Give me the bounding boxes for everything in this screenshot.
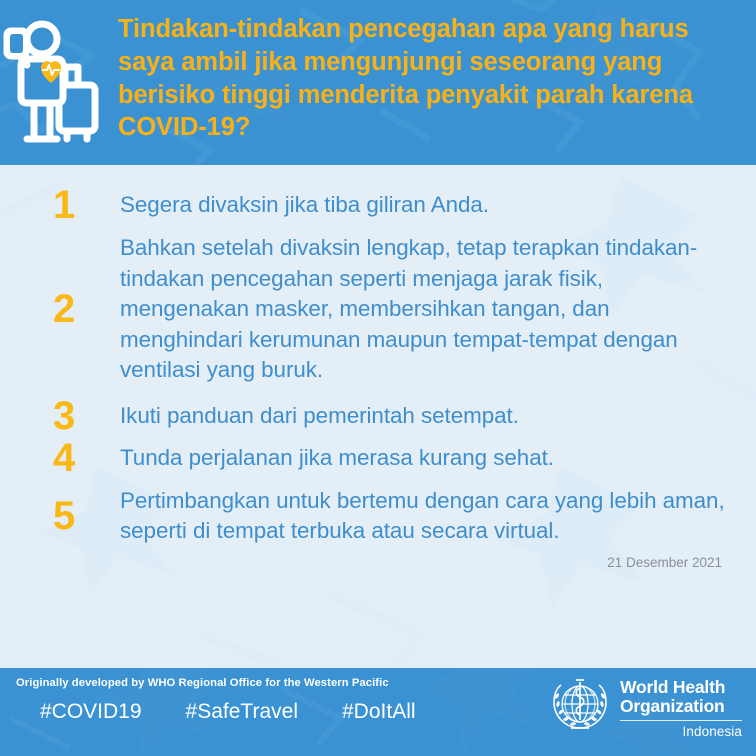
list-item: 2 Bahkan setelah divaksin lengkap, tetap… — [48, 233, 726, 386]
infographic-card: Tindakan-tindakan pencegahan apa yang ha… — [0, 0, 756, 756]
step-text: Bahkan setelah divaksin lengkap, tetap t… — [120, 233, 726, 386]
step-text: Pertimbangkan untuk bertemu dengan cara … — [120, 486, 726, 547]
step-text: Segera divaksin jika tiba giliran Anda. — [120, 190, 489, 221]
list-item: 5 Pertimbangkan untuk bertemu dengan car… — [48, 486, 726, 547]
step-number: 2 — [48, 289, 120, 329]
step-number: 4 — [48, 438, 120, 478]
hashtag-covid19[interactable]: #COVID19 — [40, 700, 142, 724]
traveler-with-suitcase-icon — [0, 0, 110, 165]
who-country-label: Indonesia — [620, 724, 742, 739]
content-area: 1 Segera divaksin jika tiba giliran Anda… — [0, 165, 756, 668]
who-logo: World Health Organization Indonesia — [549, 676, 742, 739]
list-item: 1 Segera divaksin jika tiba giliran Anda… — [48, 185, 726, 225]
list-item: 4 Tunda perjalanan jika merasa kurang se… — [48, 438, 726, 478]
step-number: 5 — [48, 496, 120, 536]
step-number: 1 — [48, 185, 120, 225]
page-title: Tindakan-tindakan pencegahan apa yang ha… — [110, 0, 756, 144]
who-wordmark: World Health Organization Indonesia — [620, 676, 742, 739]
who-name-line2: Organization — [620, 697, 742, 716]
footer-bar: Originally developed by WHO Regional Off… — [0, 668, 756, 756]
attribution-text: Originally developed by WHO Regional Off… — [16, 677, 389, 689]
hashtag-group: #COVID19 #SafeTravel #DoItAll — [40, 700, 416, 724]
header-banner: Tindakan-tindakan pencegahan apa yang ha… — [0, 0, 756, 165]
who-emblem-icon — [549, 676, 611, 738]
publish-date: 21 Desember 2021 — [0, 551, 756, 570]
list-item: 3 Ikuti panduan dari pemerintah setempat… — [48, 396, 726, 436]
who-name-line1: World Health — [620, 678, 742, 697]
prevention-steps-list: 1 Segera divaksin jika tiba giliran Anda… — [0, 165, 756, 547]
who-divider — [620, 720, 742, 721]
step-number: 3 — [48, 396, 120, 436]
hashtag-safetravel[interactable]: #SafeTravel — [186, 700, 298, 724]
step-text: Tunda perjalanan jika merasa kurang seha… — [120, 443, 554, 474]
step-text: Ikuti panduan dari pemerintah setempat. — [120, 401, 519, 432]
hashtag-doitall[interactable]: #DoItAll — [342, 700, 416, 724]
